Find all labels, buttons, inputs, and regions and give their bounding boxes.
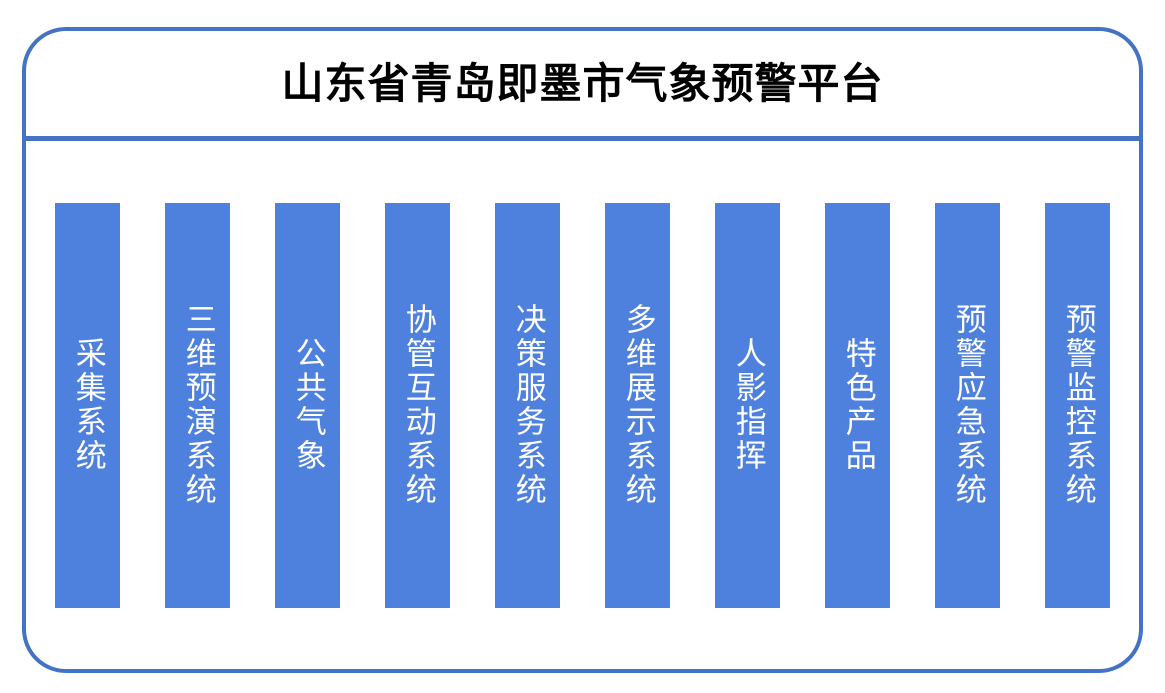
module-pillar-caiji[interactable]: 采集系统 xyxy=(55,203,120,608)
module-pillar-label: 人影指挥 xyxy=(729,337,766,473)
module-pillar-yujing-yingji[interactable]: 预警应急系统 xyxy=(935,203,1000,608)
module-pillar-label: 预警应急系统 xyxy=(949,303,986,507)
title-band: 山东省青岛即墨市气象预警平台 xyxy=(26,31,1139,136)
page-title: 山东省青岛即墨市气象预警平台 xyxy=(281,63,883,105)
module-pillar-label: 特色产品 xyxy=(839,337,876,473)
diagram-canvas: 山东省青岛即墨市气象预警平台 采集系统 三维预演系统 公共气象 协管互动系统 决… xyxy=(0,0,1165,693)
module-pillar-renying-zhihui[interactable]: 人影指挥 xyxy=(715,203,780,608)
module-pillar-tese-chanpin[interactable]: 特色产品 xyxy=(825,203,890,608)
module-pillar-label: 预警监控系统 xyxy=(1059,303,1096,507)
module-pillar-label: 决策服务系统 xyxy=(509,303,546,507)
module-pillar-label: 协管互动系统 xyxy=(399,303,436,507)
module-pillar-label: 多维展示系统 xyxy=(619,303,656,507)
module-pillar-label: 采集系统 xyxy=(69,337,106,473)
module-pillar-xieguan-hudong[interactable]: 协管互动系统 xyxy=(385,203,450,608)
module-pillar-sanwei-yuyan[interactable]: 三维预演系统 xyxy=(165,203,230,608)
module-pillar-label: 公共气象 xyxy=(289,337,326,473)
module-pillar-label: 三维预演系统 xyxy=(179,303,216,507)
module-pillar-duowei-zhanshi[interactable]: 多维展示系统 xyxy=(605,203,670,608)
module-pillar-row: 采集系统 三维预演系统 公共气象 协管互动系统 决策服务系统 多维展示系统 人影… xyxy=(26,141,1139,669)
module-pillar-gonggong-qixiang[interactable]: 公共气象 xyxy=(275,203,340,608)
module-pillar-juece-fuwu[interactable]: 决策服务系统 xyxy=(495,203,560,608)
platform-frame: 山东省青岛即墨市气象预警平台 采集系统 三维预演系统 公共气象 协管互动系统 决… xyxy=(22,27,1143,673)
module-pillar-yujing-jiankong[interactable]: 预警监控系统 xyxy=(1045,203,1110,608)
